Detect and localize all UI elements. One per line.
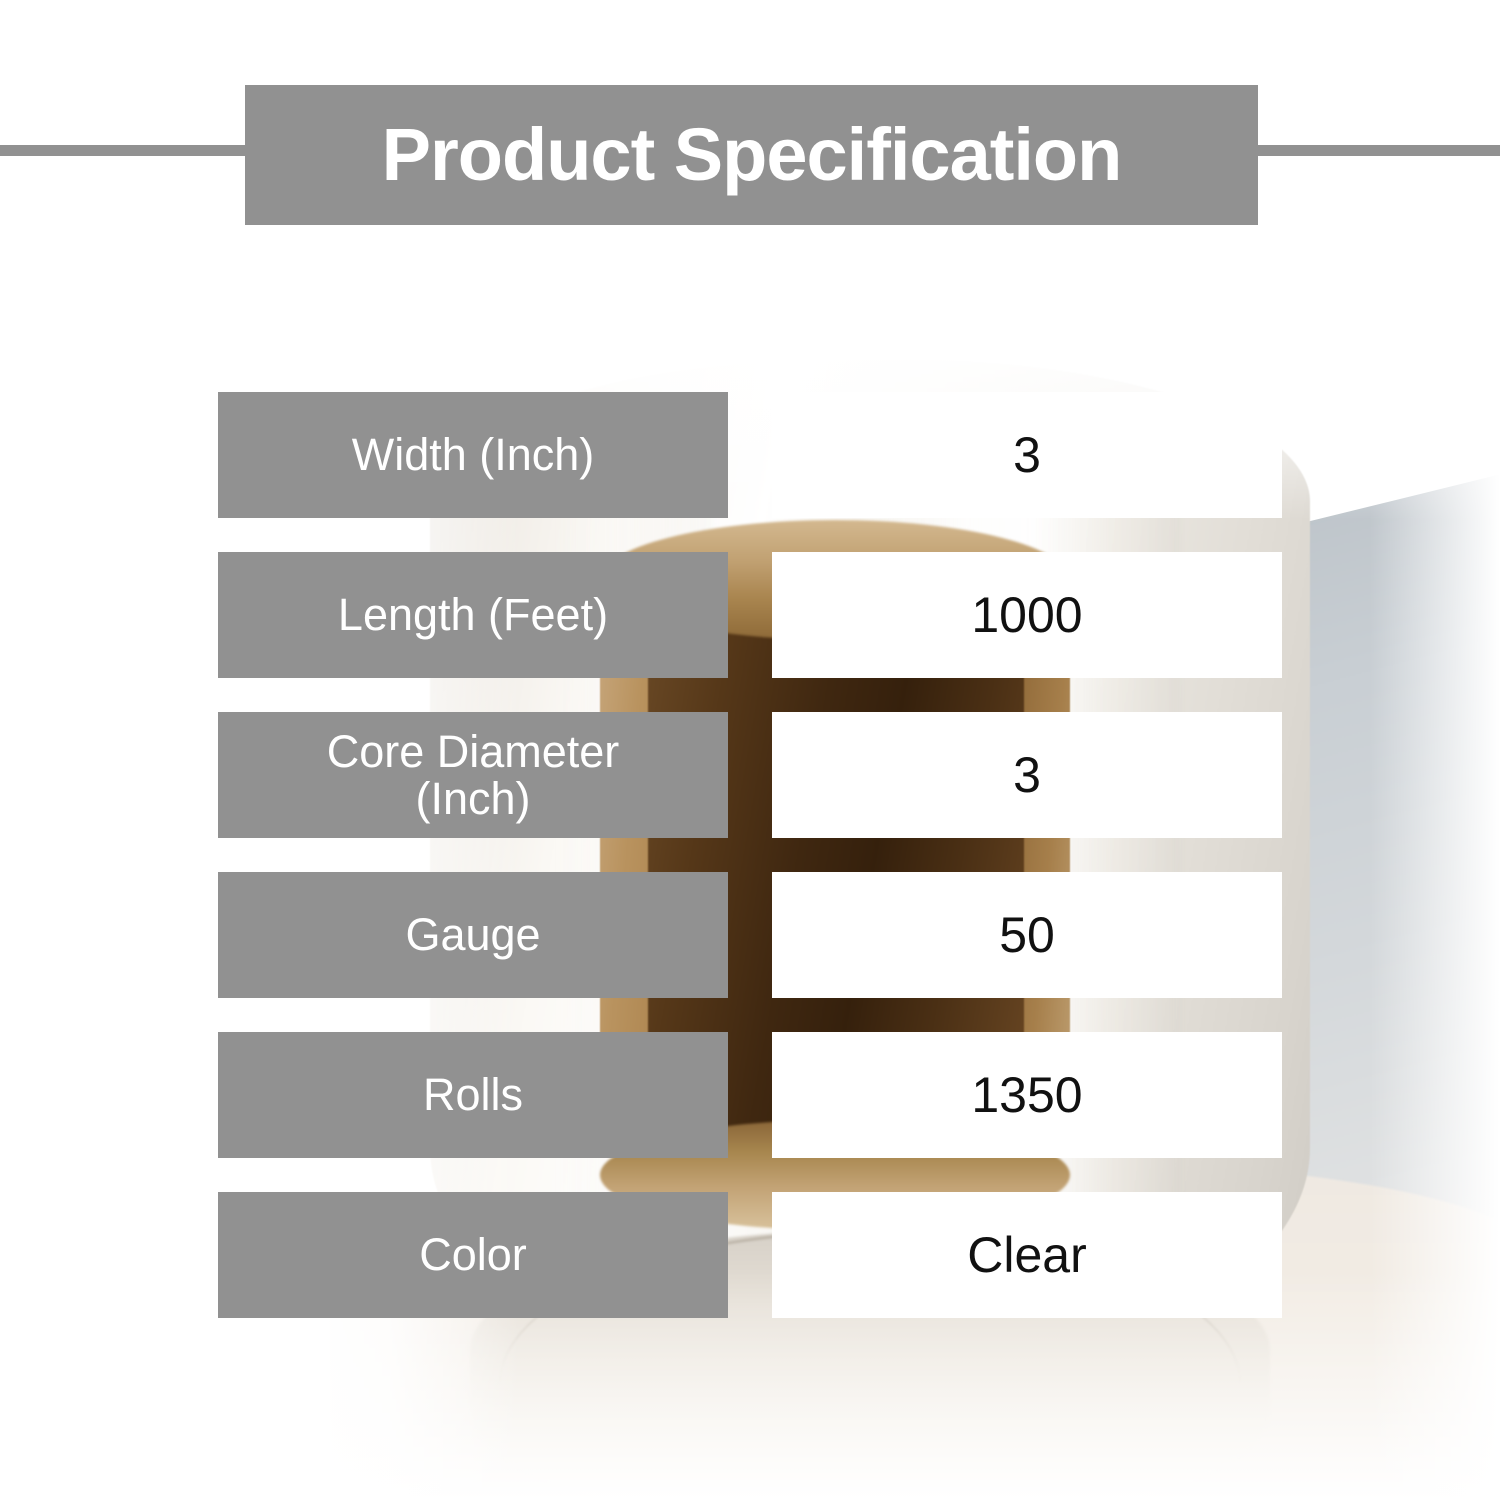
spec-label-cell: Core Diameter(Inch): [218, 712, 728, 838]
spec-label-text: Width (Inch): [352, 431, 595, 478]
spec-label-text: Core Diameter(Inch): [327, 728, 620, 823]
spec-label-text: Gauge: [405, 911, 540, 958]
page-title: Product Specification: [382, 118, 1122, 192]
spec-label-text: Length (Feet): [338, 591, 608, 638]
spec-value-text: 50: [999, 909, 1055, 962]
spec-value-text: Clear: [967, 1229, 1086, 1282]
spec-value-text: 1000: [971, 589, 1082, 642]
spec-value-text: 1350: [971, 1069, 1082, 1122]
table-row: Length (Feet) 1000: [218, 552, 1282, 678]
table-row: Color Clear: [218, 1192, 1282, 1318]
table-row: Core Diameter(Inch) 3: [218, 712, 1282, 838]
product-specification-page: Product Specification Width (Inch) 3 Len…: [0, 0, 1500, 1500]
spec-label-cell: Color: [218, 1192, 728, 1318]
spec-label-cell: Gauge: [218, 872, 728, 998]
spec-label-cell: Rolls: [218, 1032, 728, 1158]
spec-label-text: Rolls: [423, 1071, 523, 1118]
header-banner: Product Specification: [245, 85, 1258, 225]
spec-value-cell: Clear: [772, 1192, 1282, 1318]
spec-value-text: 3: [1013, 429, 1041, 482]
spec-label-text: Color: [419, 1231, 527, 1278]
spec-value-text: 3: [1013, 749, 1041, 802]
specification-table: Width (Inch) 3 Length (Feet) 1000 Core D…: [218, 392, 1282, 1318]
spec-value-cell: 3: [772, 392, 1282, 518]
spec-value-cell: 50: [772, 872, 1282, 998]
table-row: Rolls 1350: [218, 1032, 1282, 1158]
table-row: Gauge 50: [218, 872, 1282, 998]
spec-label-cell: Length (Feet): [218, 552, 728, 678]
spec-label-cell: Width (Inch): [218, 392, 728, 518]
spec-value-cell: 3: [772, 712, 1282, 838]
spec-value-cell: 1350: [772, 1032, 1282, 1158]
table-row: Width (Inch) 3: [218, 392, 1282, 518]
spec-value-cell: 1000: [772, 552, 1282, 678]
